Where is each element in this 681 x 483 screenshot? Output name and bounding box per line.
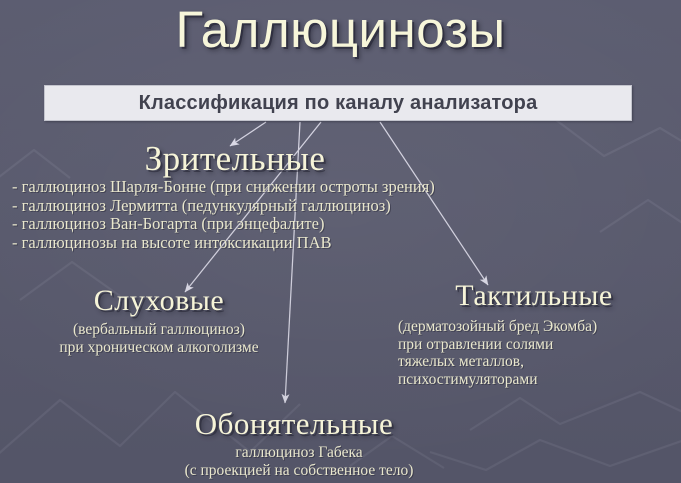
category-heading-visual: Зрительные: [0, 138, 470, 180]
presentation-slide: Галлюцинозы Классификация по каналу анал…: [0, 0, 681, 483]
list-item: психостимуляторами: [398, 371, 597, 389]
list-item: галлюциноз Габека: [124, 444, 474, 462]
list-item: (дерматозойный бред Экомба): [398, 318, 597, 336]
list-item: при хроническом алкоголизме: [16, 339, 302, 357]
list-item: (с проекцией на собственное тело): [124, 462, 474, 480]
category-list-tactile: (дерматозойный бред Экомба) при отравлен…: [398, 318, 597, 388]
list-item: тяжелых металлов,: [398, 353, 597, 371]
classification-banner-label: Классификация по каналу анализатора: [139, 92, 538, 115]
list-item: - галлюцинозы на высоте интоксикации ПАВ: [12, 234, 435, 253]
category-heading-olfactory: Обонятельные: [124, 405, 464, 443]
list-item: - галлюциноз Шарля-Бонне (при снижении о…: [12, 178, 435, 197]
classification-banner: Классификация по каналу анализатора: [44, 85, 632, 121]
page-title: Галлюцинозы: [0, 0, 681, 62]
category-heading-auditory: Слуховые: [16, 283, 302, 319]
category-list-visual: - галлюциноз Шарля-Бонне (при снижении о…: [12, 178, 435, 252]
category-list-olfactory: галлюциноз Габека (с проекцией на собств…: [124, 444, 474, 479]
category-list-auditory: (вербальный галлюциноз) при хроническом …: [16, 321, 302, 356]
category-heading-tactile: Тактильные: [396, 278, 672, 314]
list-item: (вербальный галлюциноз): [16, 321, 302, 339]
list-item: - галлюциноз Ван-Богарта (при энцефалите…: [12, 215, 435, 234]
list-item: - галлюциноз Лермитта (педункулярный гал…: [12, 197, 435, 216]
list-item: при отравлении солями: [398, 336, 597, 354]
